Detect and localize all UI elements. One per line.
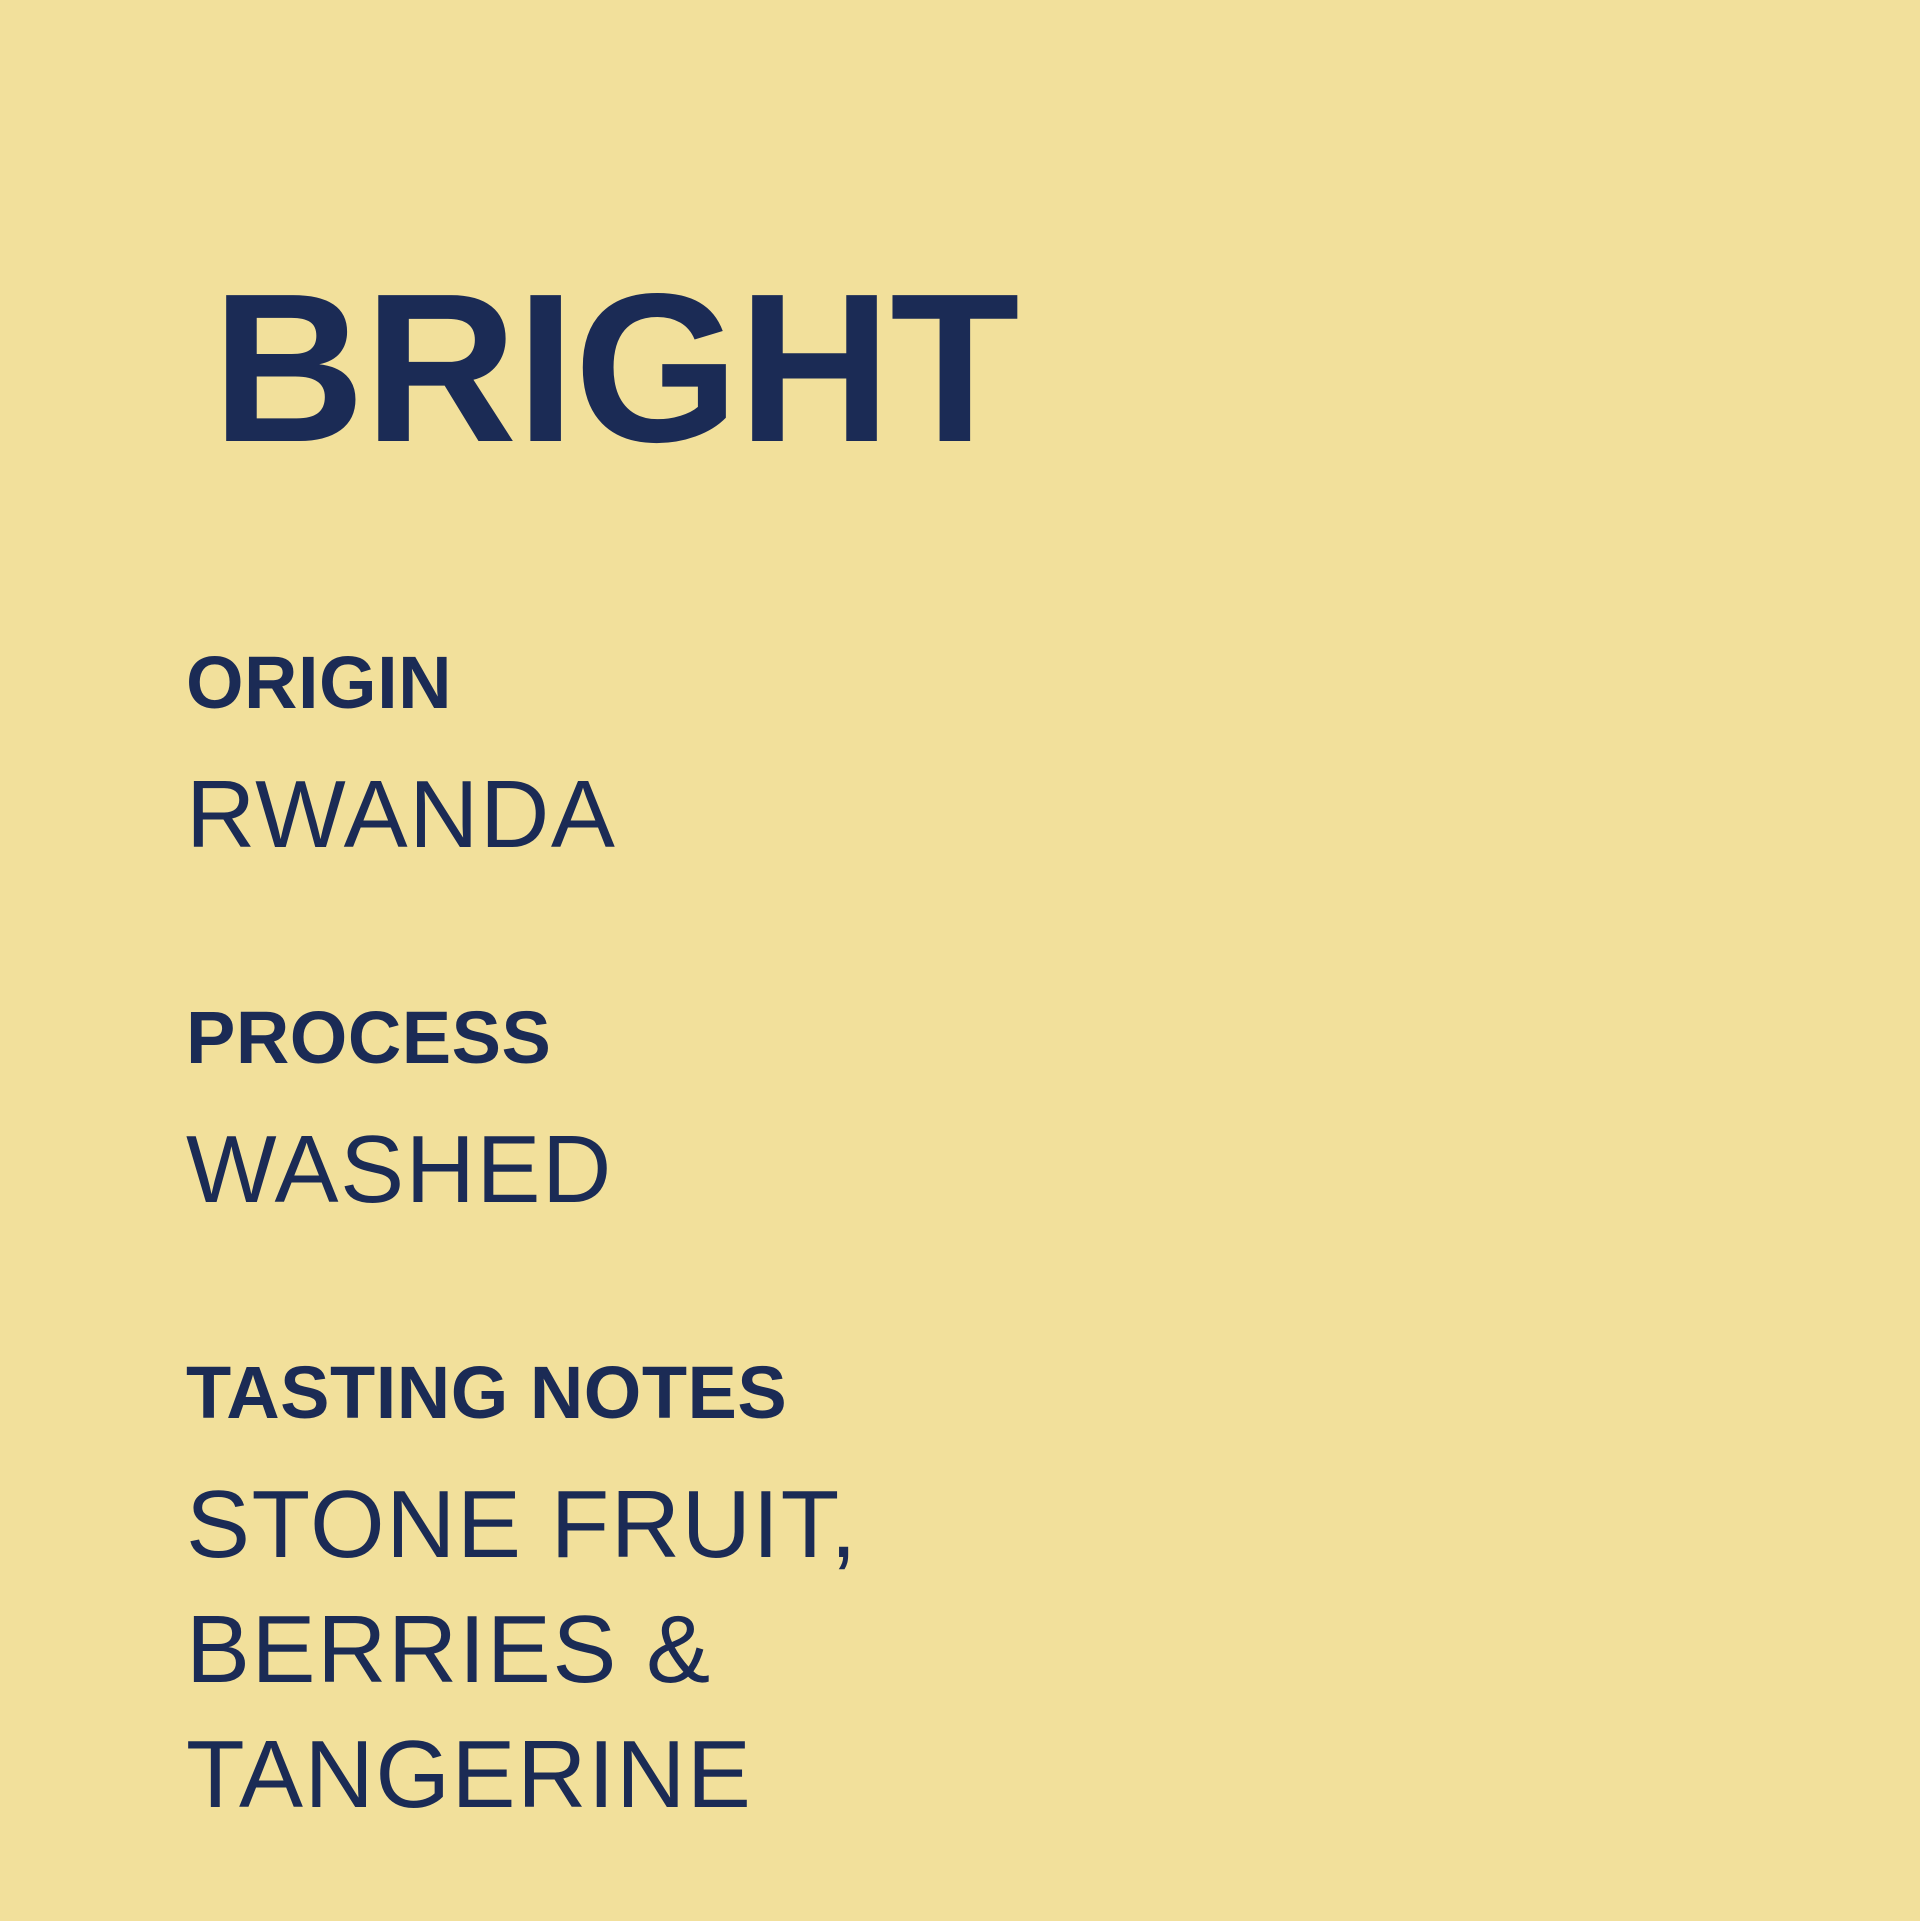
spec-value-tasting-notes: STONE FRUIT, BERRIES & TANGERINE [186, 1462, 1276, 1837]
spec-label-origin: ORIGIN [186, 640, 1686, 726]
spec-value-origin: RWANDA [186, 752, 1276, 877]
spec-group-tasting-notes: TASTING NOTES STONE FRUIT, BERRIES & TAN… [186, 1350, 1686, 1837]
spec-value-process: WASHED [186, 1107, 1276, 1232]
spec-label-process: PROCESS [186, 995, 1686, 1081]
coffee-label-card: BRIGHT ORIGIN RWANDA PROCESS WASHED TAST… [0, 0, 1920, 1921]
spec-list: ORIGIN RWANDA PROCESS WASHED TASTING NOT… [186, 640, 1686, 1837]
spec-label-tasting-notes: TASTING NOTES [186, 1350, 1686, 1436]
spec-group-process: PROCESS WASHED [186, 995, 1686, 1232]
spec-group-origin: ORIGIN RWANDA [186, 640, 1686, 877]
page-title: BRIGHT [212, 262, 1019, 474]
